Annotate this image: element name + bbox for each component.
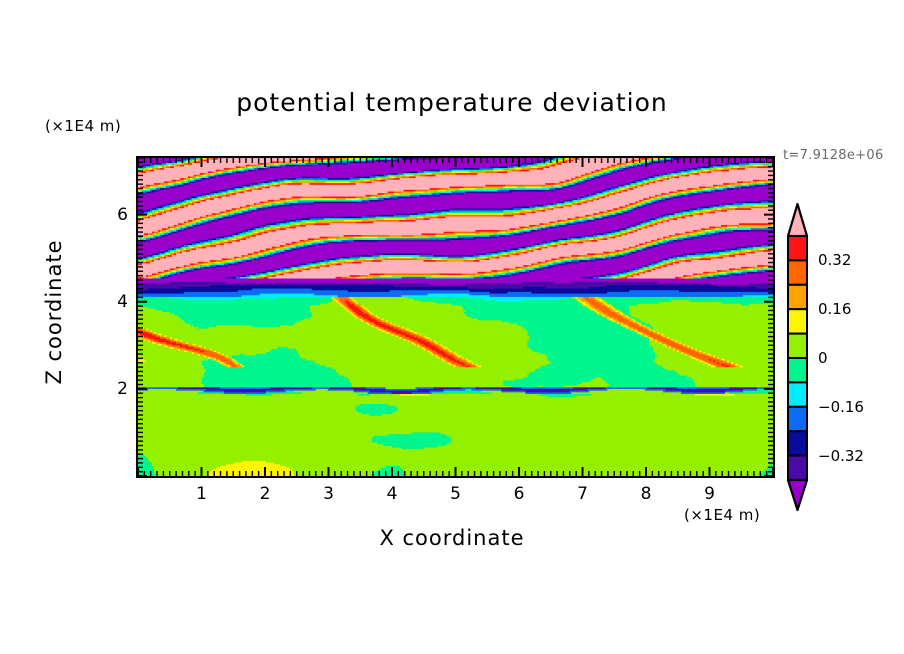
colorbar-tick-label: 0 (818, 349, 828, 367)
y-tick-label: 2 (112, 379, 128, 399)
x-tick-label: 7 (577, 484, 588, 504)
x-tick-label: 9 (704, 484, 715, 504)
axis-ticks (136, 156, 775, 478)
x-tick-label: 2 (260, 484, 271, 504)
y-tick-label: 6 (112, 205, 128, 225)
y-axis-unit: (×1E4 m) (45, 117, 121, 135)
x-axis-label: X coordinate (0, 526, 904, 550)
colorbar-tick-label: −0.16 (818, 398, 864, 416)
colorbar-tick-label: −0.32 (818, 447, 864, 465)
x-tick-label: 8 (641, 484, 652, 504)
y-tick-label: 4 (112, 292, 128, 312)
x-tick-label: 3 (323, 484, 334, 504)
colorbar-tick-label: 0.16 (818, 300, 851, 318)
x-axis-unit: (×1E4 m) (684, 506, 760, 524)
colorbar (781, 202, 815, 514)
colorbar-tick-label: 0.32 (818, 251, 851, 269)
x-tick-label: 5 (450, 484, 461, 504)
x-tick-label: 4 (387, 484, 398, 504)
time-annotation: t=7.9128e+06 (783, 148, 884, 163)
x-tick-label: 6 (514, 484, 525, 504)
y-axis-label: Z coordinate (42, 222, 66, 402)
x-tick-label: 1 (196, 484, 207, 504)
chart-title: potential temperature deviation (0, 88, 904, 117)
